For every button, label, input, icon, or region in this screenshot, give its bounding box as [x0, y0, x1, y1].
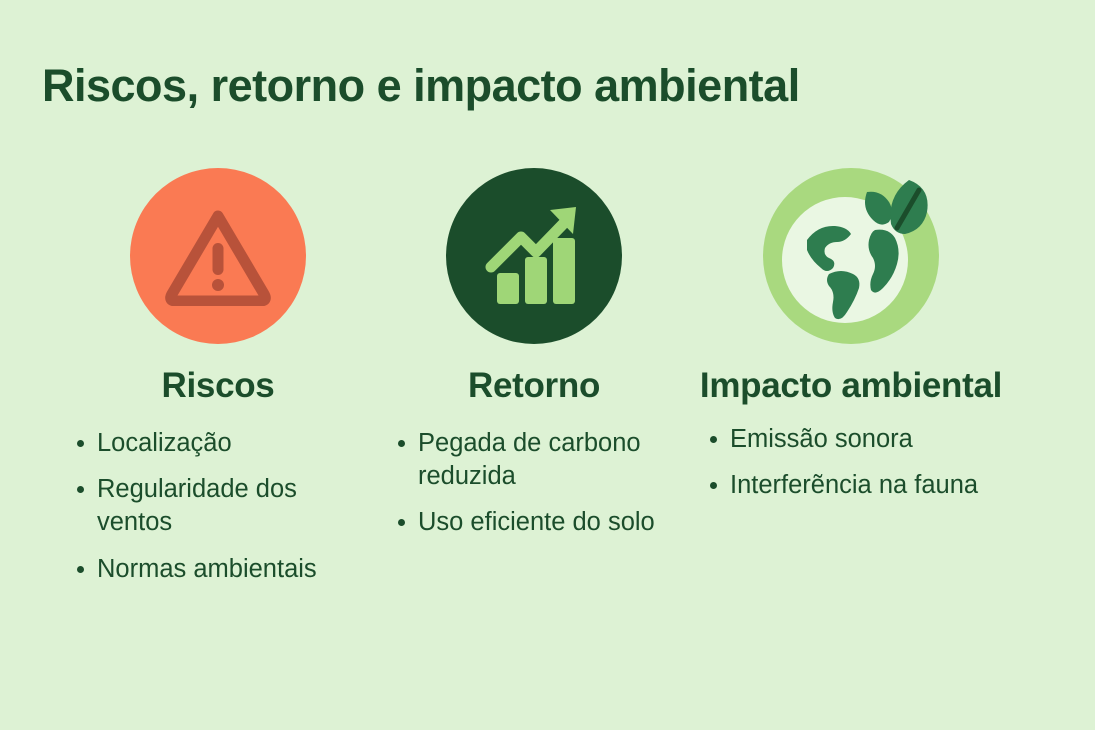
bullet-text: Regularidade dos ventos — [97, 473, 379, 539]
list-item: Localização — [77, 427, 379, 460]
column-impacto-ambiental: Impacto ambiental Emissão sonora Interfe… — [690, 168, 1012, 502]
growth-bar-chart-icon — [480, 204, 588, 308]
bullets-retorno: Pegada de carbono reduzida Uso eficiente… — [378, 427, 690, 539]
bullets-impacto-ambiental: Emissão sonora Interferẽncia na fauna — [690, 423, 1012, 502]
heading-impacto-ambiental: Impacto ambiental — [690, 366, 1012, 405]
globe-leaf-icon — [763, 168, 939, 344]
list-item: Uso eficiente do solo — [398, 506, 690, 539]
bullet-text: Interferẽncia na fauna — [730, 469, 1012, 502]
bullet-text: Pegada de carbono reduzida — [418, 427, 690, 493]
bullet-text: Localização — [97, 427, 379, 460]
impacto-icon-circle — [763, 168, 939, 344]
bullet-text: Normas ambientais — [97, 553, 379, 586]
infographic-canvas: Riscos, retorno e impacto ambiental Risc… — [0, 0, 1095, 730]
bullets-riscos: Localização Regularidade dos ventos Norm… — [57, 427, 379, 586]
column-riscos: Riscos Localização Regularidade dos vent… — [57, 168, 379, 586]
heading-retorno: Retorno — [378, 366, 690, 405]
riscos-icon-circle — [130, 168, 306, 344]
retorno-icon-circle — [446, 168, 622, 344]
bullet-text: Uso eficiente do solo — [418, 506, 690, 539]
heading-riscos: Riscos — [57, 366, 379, 405]
list-item: Normas ambientais — [77, 553, 379, 586]
page-title: Riscos, retorno e impacto ambiental — [42, 62, 800, 109]
bullet-text: Emissão sonora — [730, 423, 1012, 456]
column-retorno: Retorno Pegada de carbono reduzida Uso e… — [378, 168, 690, 540]
list-item: Emissão sonora — [710, 423, 1012, 456]
list-item: Interferẽncia na fauna — [710, 469, 1012, 502]
list-item: Pegada de carbono reduzida — [398, 427, 690, 493]
warning-triangle-icon — [164, 206, 272, 306]
list-item: Regularidade dos ventos — [77, 473, 379, 539]
